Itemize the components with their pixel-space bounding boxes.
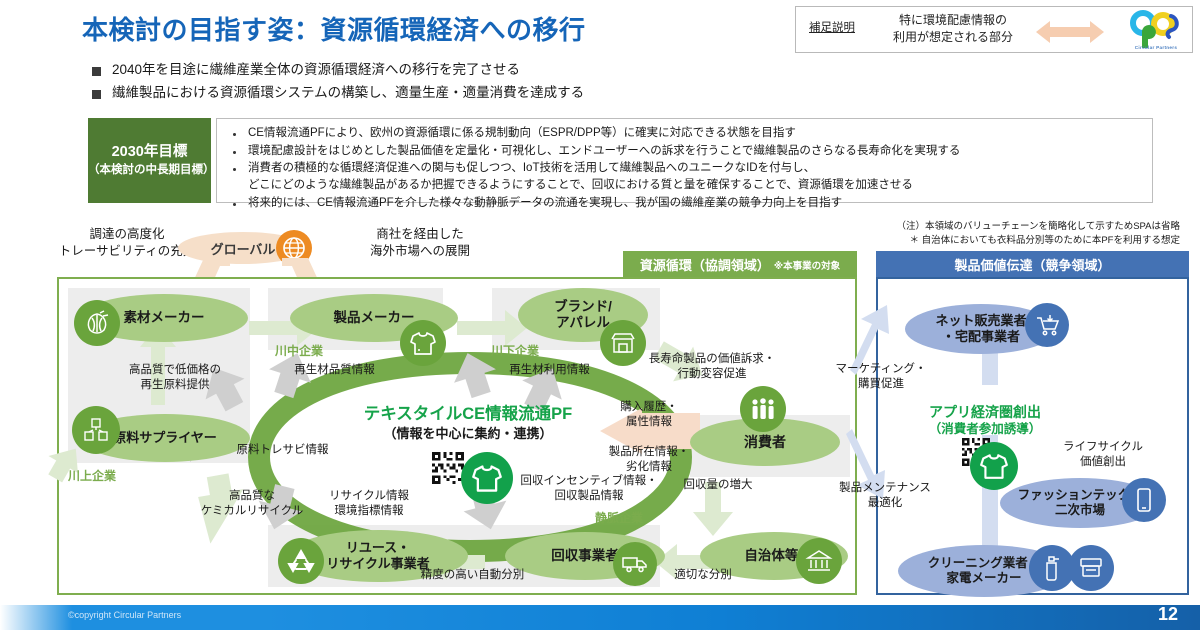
qr-code-icon xyxy=(432,452,464,484)
flow-label-maintenance: 製品メンテナンス最適化 xyxy=(820,481,950,511)
supplementary-note-text: 特に環境配慮情報の利用が想定される部分 xyxy=(878,12,1028,47)
goal-label-line2: （本検討の中長期目標） xyxy=(88,163,211,179)
page-title: 本検討の目指す姿：資源循環経済への移行 xyxy=(82,10,586,47)
global-pill-label: グローバル xyxy=(211,239,276,258)
app-center-title: アプリ経済圏創出 （消費者参加誘導） xyxy=(900,403,1070,437)
panel-tab-sub-label: ※本事業の対象 xyxy=(774,258,840,272)
panel-tab-resource-circulation: 資源循環（協調領域） ※本事業の対象 xyxy=(623,251,857,278)
dot-bullet-icon xyxy=(233,168,236,171)
smartphone-icon xyxy=(1122,478,1166,522)
goal-item-text: CE情報流通PFにより、欧州の資源循環に係る規制動向（ESPR/DPP等）に確実… xyxy=(248,125,796,142)
square-bullet-icon xyxy=(92,90,101,99)
flow-label-purchase-history: 購入履歴・属性情報 xyxy=(598,400,700,430)
procurement-right-label: 商社を経由した海外市場への展開 xyxy=(340,226,500,260)
dot-bullet-icon xyxy=(233,203,236,206)
goal-body: CE情報流通PFにより、欧州の資源循環に係る規制動向（ESPR/DPP等）に確実… xyxy=(216,118,1153,203)
node-label: ブランド/アパレル xyxy=(554,299,612,331)
washer-icon xyxy=(1068,545,1114,591)
people-icon xyxy=(740,386,786,432)
footer-copyright: ©copyright Circular Partners xyxy=(68,610,181,620)
node-label: ネット販売業者・宅配事業者 xyxy=(935,313,1026,344)
list-item: 2040年を目途に繊維産業全体の資源循環経済への移行を完了させる xyxy=(92,62,584,79)
app-title-sub: （消費者参加誘導） xyxy=(900,421,1070,437)
node-label: 自治体等* xyxy=(744,548,803,564)
dot-bullet-icon xyxy=(233,151,236,154)
bullet-text: 2040年を目途に繊維産業全体の資源循環経済への移行を完了させる xyxy=(112,62,520,79)
node-label: クリーニング業者・家電メーカー xyxy=(928,556,1041,586)
panel-tab-main-label: 資源循環（協調領域） xyxy=(640,255,770,274)
list-item: 消費者の積極的な循環経済促進への関与も促しつつ、IoT技術を活用して繊維製品への… xyxy=(227,160,1146,193)
tier-label-upstream: 川上企業 xyxy=(68,469,158,485)
node-label: 素材メーカー xyxy=(124,310,205,326)
tshirt-icon xyxy=(400,320,446,366)
goal-label-line1: 2030年目標 xyxy=(112,143,188,163)
pf-center-title: テキスタイルCE情報流通PF （情報を中心に集約・連携） xyxy=(318,404,618,442)
supplementary-note-box: 補足説明 特に環境配慮情報の利用が想定される部分 Circular Partne… xyxy=(795,6,1193,53)
goal-label: 2030年目標 （本検討の中長期目標） xyxy=(88,118,211,203)
list-item: 繊維製品における資源循環システムの構築し、適量生産・適量消費を達成する xyxy=(92,85,584,102)
double-arrow-icon xyxy=(1036,21,1104,43)
flow-label-recycled-material-supply: 高品質で低価格の再生原料提供 xyxy=(105,363,245,393)
flow-label-raw-trace-info: 原料トレサビ情報 xyxy=(215,443,350,458)
diagram-footnote: （注）本領域のバリューチェーンを簡略化して示すためSPAは省略 ＊ 自治体におい… xyxy=(620,220,1180,249)
goal-item-line2: どこにどのような繊維製品があるか把握できるようにすることで、回収における質と量を… xyxy=(248,177,913,194)
tier-label-downstream: 川下企業 xyxy=(491,344,581,360)
tier-label-venous: 静脈企業 xyxy=(595,511,685,527)
goal-item-line1: 消費者の積極的な循環経済促進への関与も促しつつ、IoT技術を活用して繊維製品への… xyxy=(248,162,815,174)
logo-caption: Circular Partners xyxy=(1121,45,1191,50)
tier-label-midstream: 川中企業 xyxy=(275,344,365,360)
list-item: 環境配慮設計をはじめとした製品価値を定量化・可視化し、エンドユーザーへの訴求を行… xyxy=(227,143,1146,160)
flow-label-recycled-quality-info: 再生材品質情報 xyxy=(272,363,397,378)
dot-bullet-icon xyxy=(233,133,236,136)
flow-label-long-life-value: 長寿命製品の価値訴求・行動変容促進 xyxy=(632,352,792,382)
goal-item-text: 将来的には、CE情報流通PFを介した様々な動静脈データの流通を実現し、我が国の繊… xyxy=(248,195,842,212)
bullet-list: 2040年を目途に繊維産業全体の資源循環経済への移行を完了させる 繊維製品におけ… xyxy=(92,62,584,108)
flow-label-collection-incentive: 回収インセンティブ情報・回収製品情報 xyxy=(505,474,673,504)
flow-label-marketing: マーケティング・購買促進 xyxy=(820,362,942,392)
node-label: 製品メーカー xyxy=(334,310,415,326)
flow-label-product-location: 製品所在情報・劣化情報 xyxy=(590,445,708,475)
list-item: CE情報流通PFにより、欧州の資源循環に係る規制動向（ESPR/DPP等）に確実… xyxy=(227,125,1146,142)
flow-label-lifecycle-value: ライフサイクル価値創出 xyxy=(1048,440,1158,470)
supplementary-note-label: 補足説明 xyxy=(809,19,855,35)
goal-box: 2030年目標 （本検討の中長期目標） CE情報流通PFにより、欧州の資源循環に… xyxy=(88,118,1153,203)
slide-root: 本検討の目指す姿：資源循環経済への移行 補足説明 特に環境配慮情報の利用が想定さ… xyxy=(0,0,1200,630)
bullet-text: 繊維製品における資源循環システムの構築し、適量生産・適量消費を達成する xyxy=(112,85,584,102)
cart-icon xyxy=(1025,303,1069,347)
tshirt-up-icon xyxy=(970,442,1018,490)
goal-item-text: 消費者の積極的な循環経済促進への関与も促しつつ、IoT技術を活用して繊維製品への… xyxy=(248,160,913,193)
list-item: 将来的には、CE情報流通PFを介した様々な動静脈データの流通を実現し、我が国の繊… xyxy=(227,195,1146,212)
recycle-icon xyxy=(278,538,324,584)
node-label: 回収事業者 xyxy=(551,548,619,564)
square-bullet-icon xyxy=(92,67,101,76)
flow-label-collection-volume: 回収量の増大 xyxy=(663,478,773,493)
cotton-boll-icon xyxy=(74,300,120,346)
truck-icon xyxy=(613,542,657,586)
molecule-icon xyxy=(72,406,120,454)
node-label: 原料サプライヤー xyxy=(113,430,217,446)
flow-label-proper-sorting: 適切な分別 xyxy=(653,568,753,583)
flow-label-auto-sorting: 精度の高い自動分別 xyxy=(400,568,545,583)
pf-title-sub: （情報を中心に集約・連携） xyxy=(318,425,618,443)
panel-tab-product-value: 製品価値伝達（競争領域） xyxy=(876,251,1189,278)
page-number: 12 xyxy=(1158,604,1178,625)
pf-title-main: テキスタイルCE情報流通PF xyxy=(318,404,618,425)
goal-item-text: 環境配慮設計をはじめとした製品価値を定量化・可視化し、エンドユーザーへの訴求を行… xyxy=(248,143,960,160)
flow-label-recycle-info: リサイクル情報環境指標情報 xyxy=(310,489,428,519)
flow-label-chemical-recycle: 高品質なケミカルリサイクル xyxy=(182,489,322,519)
node-label: 消費者 xyxy=(744,434,786,451)
app-title-main: アプリ経済圏創出 xyxy=(900,403,1070,421)
flow-label-recycled-usage-info: 再生材利用情報 xyxy=(487,363,612,378)
node-label: リユース・リサイクル事業者 xyxy=(326,540,429,571)
